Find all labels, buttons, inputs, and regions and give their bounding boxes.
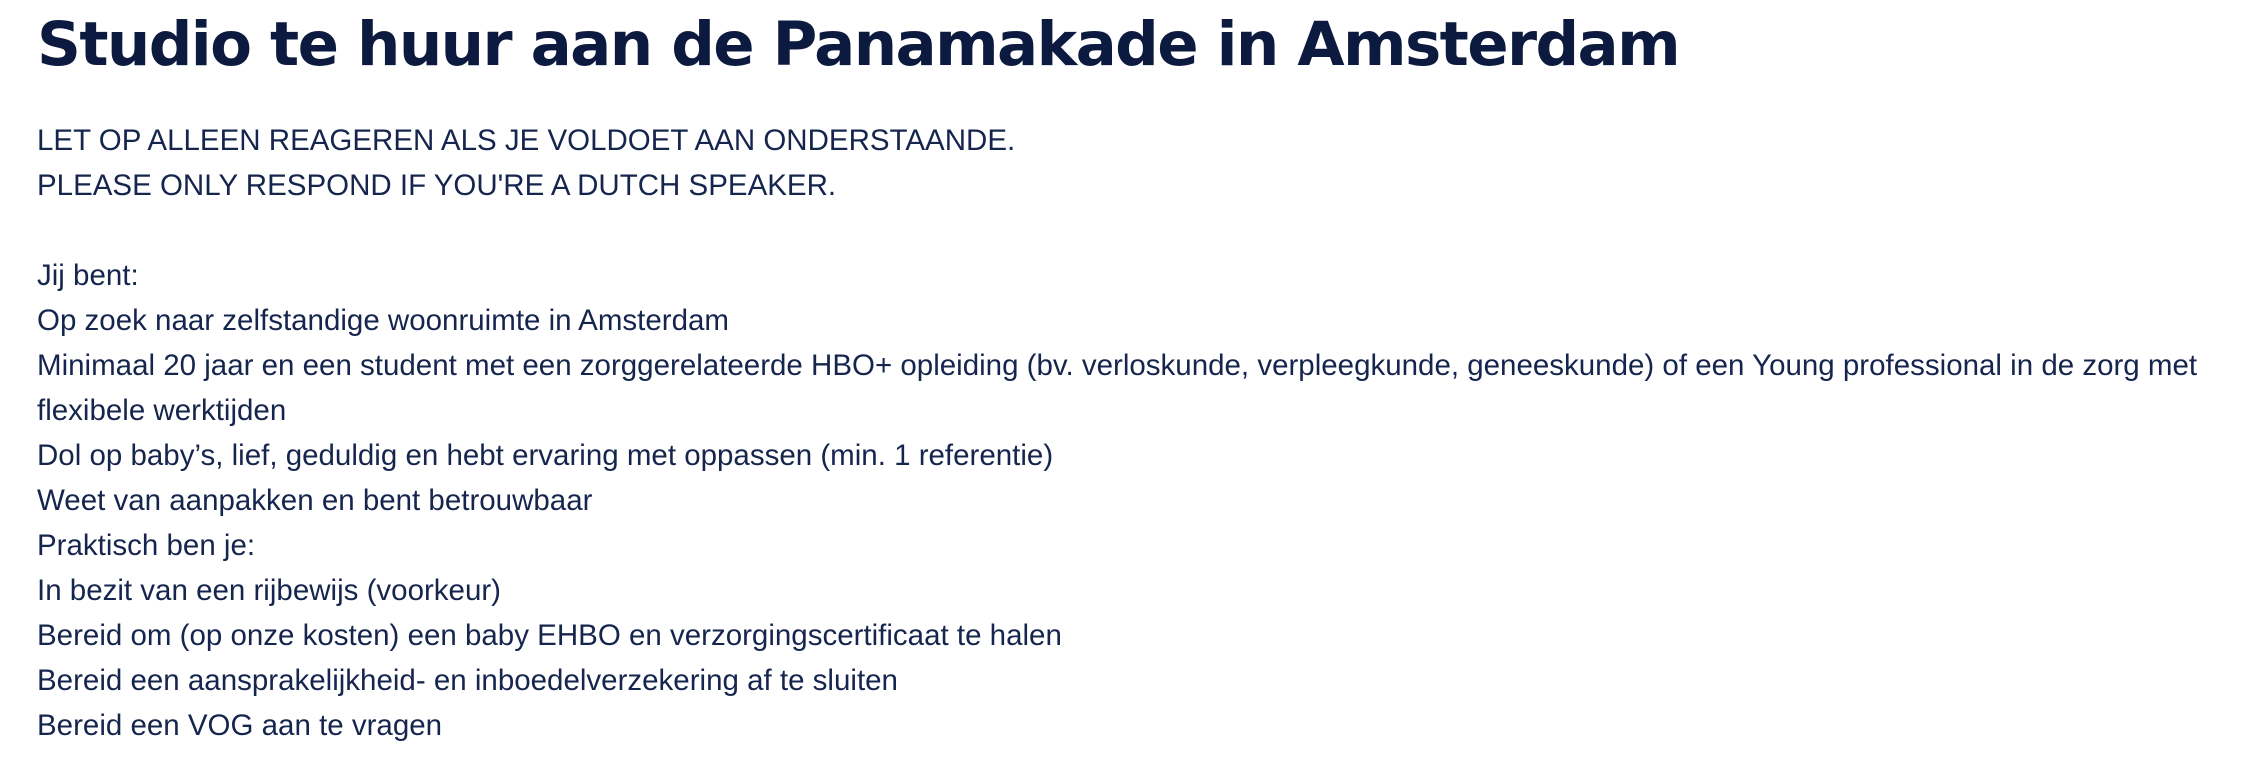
description-line: Op zoek naar zelfstandige woonruimte in … (37, 298, 2212, 343)
description-line: In bezit van een rijbewijs (voorkeur) (37, 568, 2212, 613)
description-line: Praktisch ben je: (37, 523, 2212, 568)
page-title: Studio te huur aan de Panamakade in Amst… (37, 8, 2212, 82)
description-line: LET OP ALLEEN REAGEREN ALS JE VOLDOET AA… (37, 118, 2212, 163)
description-line: Minimaal 20 jaar en een student met een … (37, 343, 2212, 433)
description-blank-line (37, 208, 2212, 253)
description-line: PLEASE ONLY RESPOND IF YOU'RE A DUTCH SP… (37, 163, 2212, 208)
listing-article: Studio te huur aan de Panamakade in Amst… (37, 0, 2212, 704)
listing-page: Studio te huur aan de Panamakade in Amst… (0, 0, 2260, 770)
description-line: Bereid om (op onze kosten) een baby EHBO… (37, 613, 2212, 658)
description-line: Bereid een VOG aan te vragen (37, 703, 2212, 748)
description-line: Jij bent: (37, 253, 2212, 298)
description-line: Weet van aanpakken en bent betrouwbaar (37, 478, 2212, 523)
listing-description: LET OP ALLEEN REAGEREN ALS JE VOLDOET AA… (37, 118, 2212, 748)
description-line: Bereid een aansprakelijkheid- en inboede… (37, 658, 2212, 703)
description-line: Dol op baby’s, lief, geduldig en hebt er… (37, 433, 2212, 478)
